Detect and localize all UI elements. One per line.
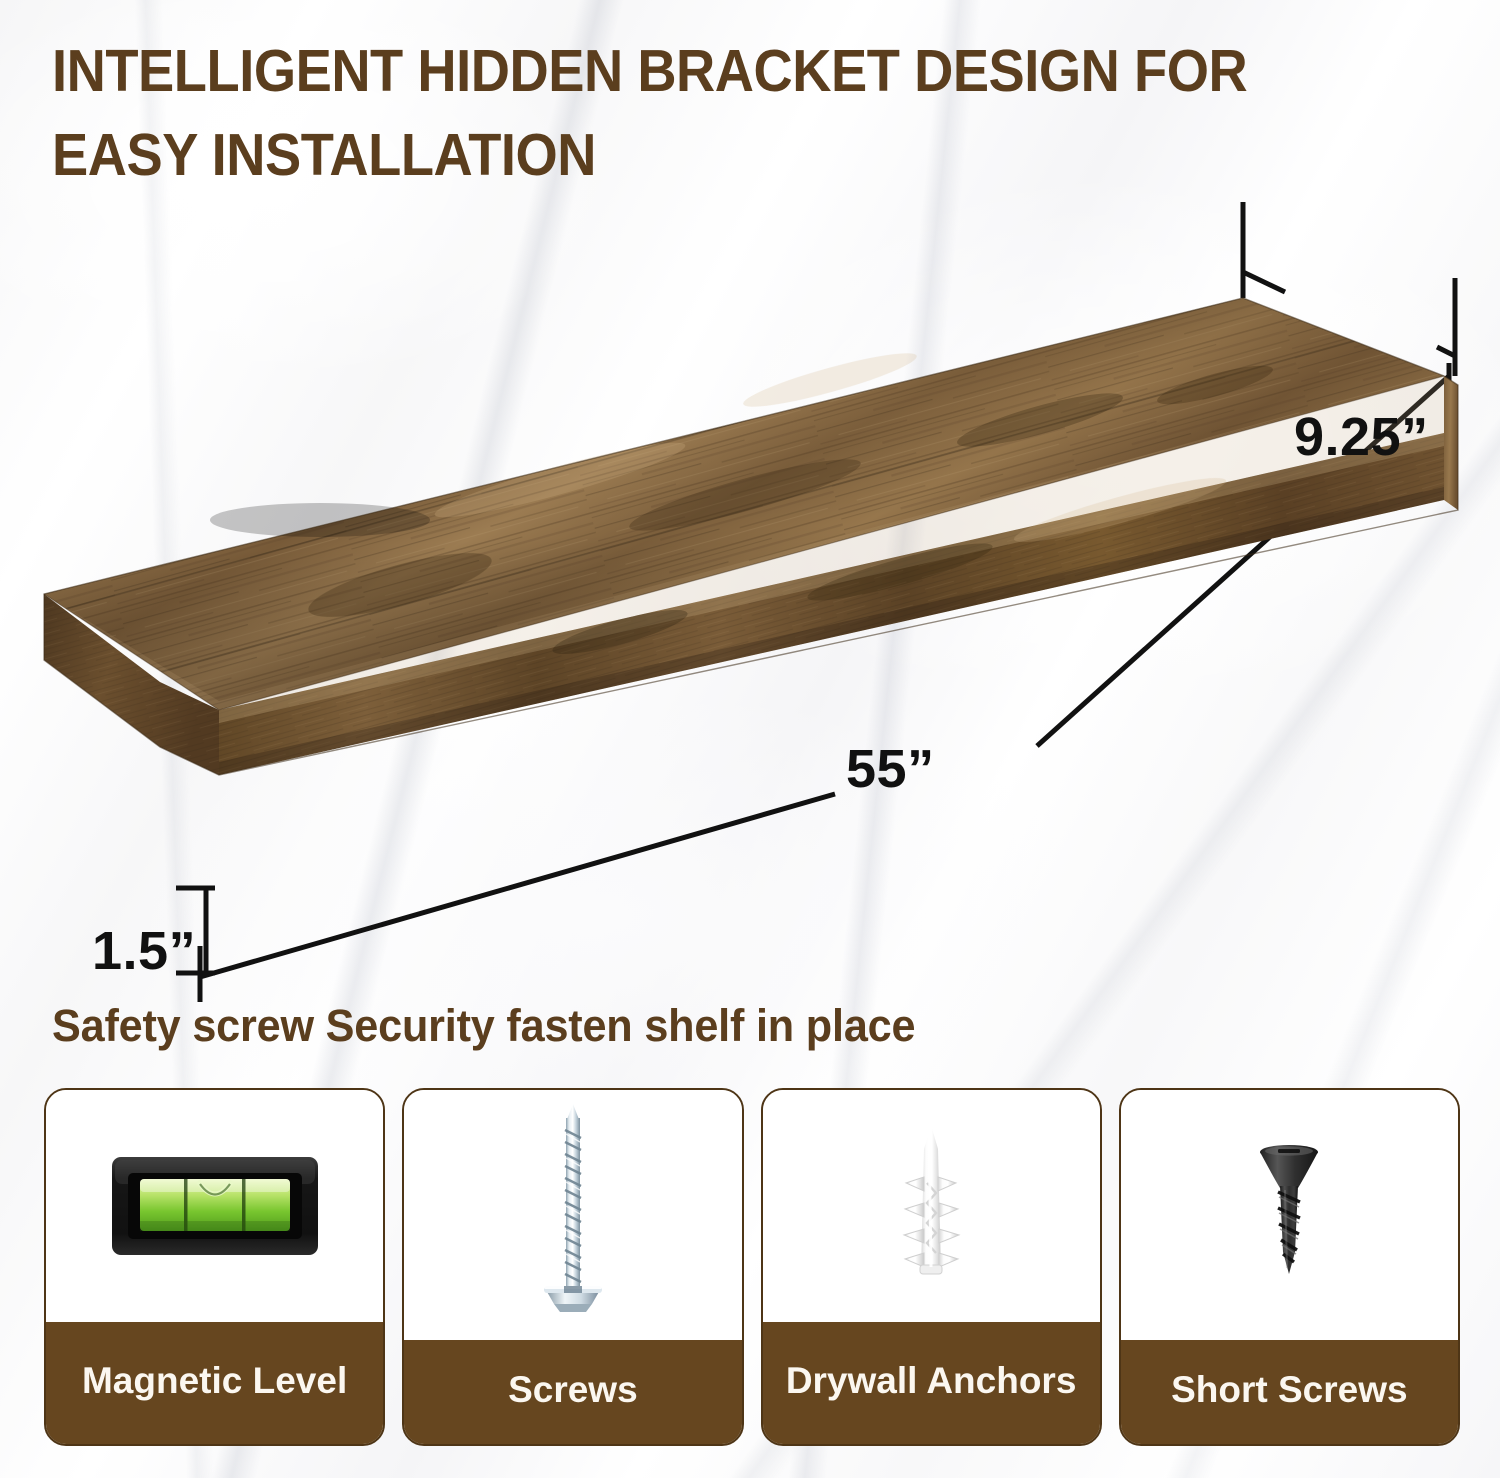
- card-artwork: [763, 1090, 1100, 1322]
- card-artwork: [46, 1090, 383, 1322]
- card-label: Screws: [404, 1340, 741, 1444]
- card-label: Magnetic Level: [46, 1322, 383, 1444]
- hardware-card-short-screws[interactable]: Short Screws: [1119, 1088, 1460, 1446]
- dimension-label-thickness: 1.5”: [92, 920, 196, 982]
- spirit-level-icon: [110, 1151, 320, 1261]
- hardware-card-drywall-anchors[interactable]: Drywall Anchors: [761, 1088, 1102, 1446]
- page-title: INTELLIGENT HIDDEN BRACKET DESIGN FOR EA…: [52, 30, 1358, 198]
- hardware-card-list: Magnetic Level: [44, 1088, 1460, 1446]
- card-label: Drywall Anchors: [763, 1322, 1100, 1444]
- dimension-label-depth: 9.25”: [1294, 406, 1429, 468]
- hardware-card-screws[interactable]: Screws: [402, 1088, 743, 1446]
- drywall-anchor-icon: [886, 1121, 976, 1291]
- section-subtitle: Safety screw Security fasten shelf in pl…: [52, 1000, 1358, 1052]
- dimension-label-width: 55”: [846, 738, 935, 800]
- short-screw-icon: [1249, 1140, 1329, 1290]
- shelf-illustration: 9.25” 55” 1.5”: [0, 180, 1500, 860]
- long-screw-icon: [538, 1100, 608, 1330]
- card-artwork: [404, 1090, 741, 1340]
- hardware-card-magnetic-level[interactable]: Magnetic Level: [44, 1088, 385, 1446]
- card-label: Short Screws: [1121, 1340, 1458, 1444]
- wood-shelf-board: [44, 298, 1458, 775]
- product-infographic: INTELLIGENT HIDDEN BRACKET DESIGN FOR EA…: [0, 0, 1500, 1478]
- card-artwork: [1121, 1090, 1458, 1340]
